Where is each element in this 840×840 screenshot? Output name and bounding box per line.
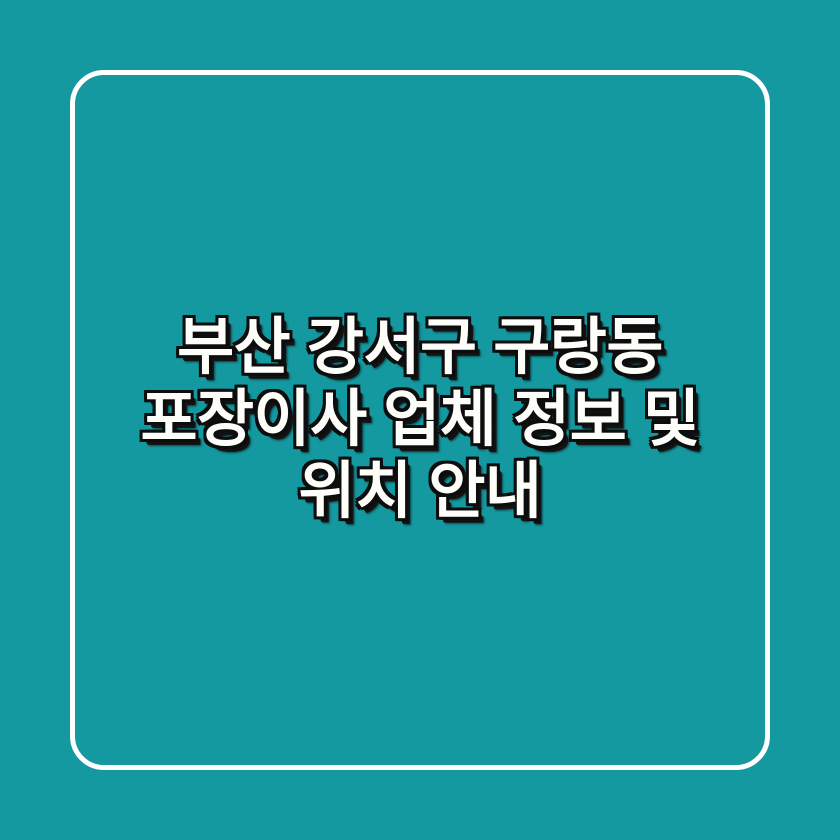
thumbnail-canvas: 부산 강서구 구랑동 포장이사 업체 정보 및 위치 안내 (0, 0, 840, 840)
title-block: 부산 강서구 구랑동 포장이사 업체 정보 및 위치 안내 (70, 70, 770, 770)
title-line-2: 포장이사 업체 정보 및 (94, 384, 746, 456)
title-line-1: 부산 강서구 구랑동 (94, 312, 746, 384)
title-line-3: 위치 안내 (94, 456, 746, 528)
page-title: 부산 강서구 구랑동 포장이사 업체 정보 및 위치 안내 (94, 312, 746, 528)
